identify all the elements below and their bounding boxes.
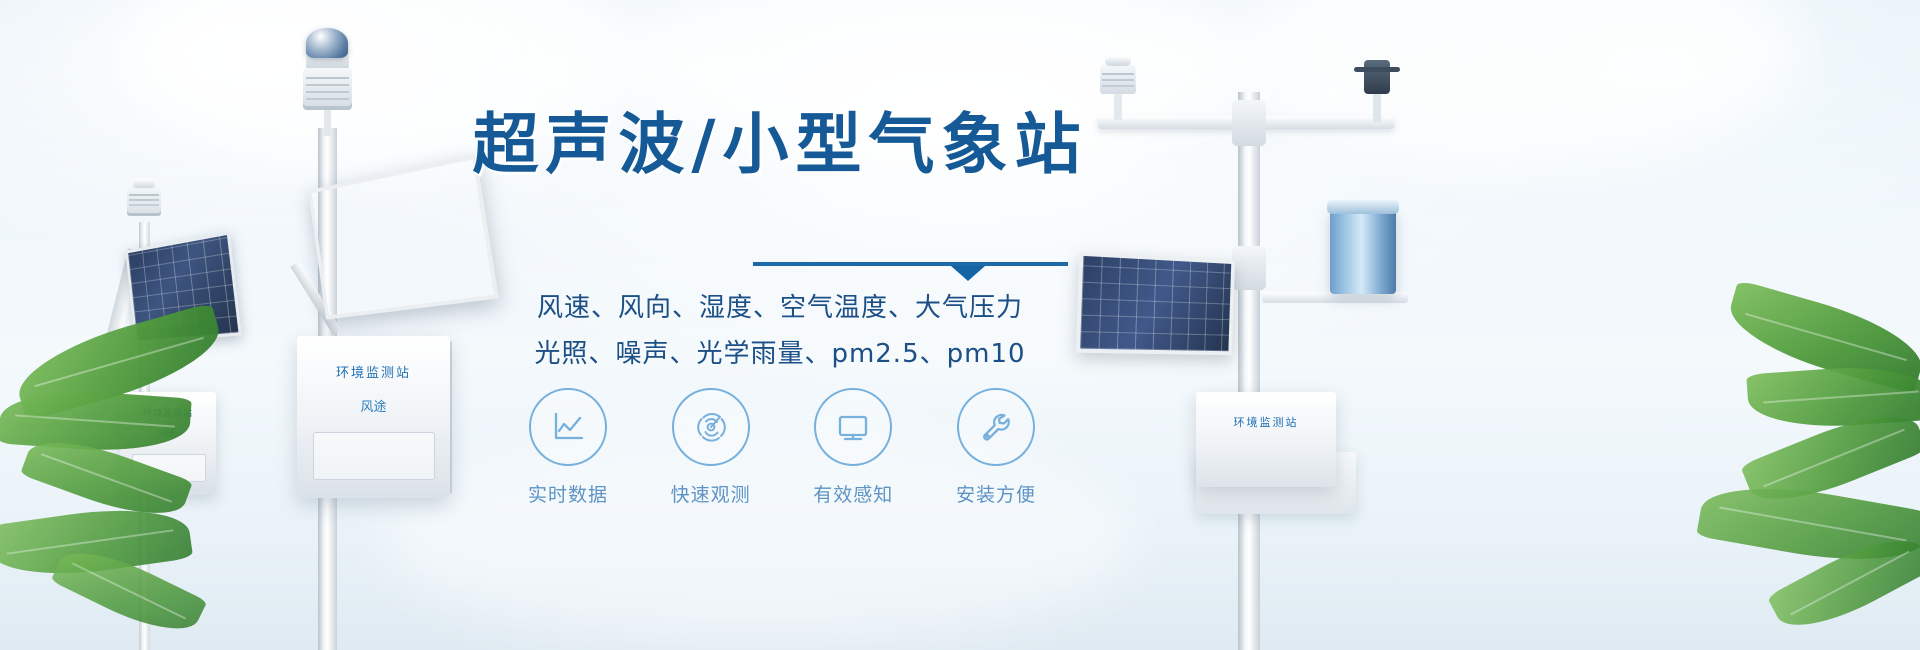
feature-label: 实时数据 [528,480,608,507]
feature-label: 快速观测 [671,480,751,507]
cabinet-vent [313,432,435,480]
line-chart-icon [529,388,607,466]
feature-label: 安装方便 [956,480,1036,507]
cabinet-label: 环境监测站 [336,362,411,381]
ultrasonic-sensor-icon [127,186,161,216]
feature-item-fast-observation[interactable]: 快速观测 [655,388,767,507]
pole-clamp [1232,246,1266,290]
banner-title: 超声波/小型气象站 [440,106,1120,184]
monitoring-cabinet: 环境监测站 风途 [297,336,450,498]
wind-vane-icon [1364,60,1390,94]
monitor-icon [814,388,892,466]
banner-content: 超声波/小型气象站 风速、风向、湿度、空气温度、大气压力 光照、噪声、光学雨量、… [440,0,1120,650]
feature-label: 有效感知 [813,480,893,507]
feature-list: 实时数据 快速观测 [512,388,1052,507]
product-banner: 环境监测站 风途 环境监测站 风途 环境监测 [0,0,1920,650]
pole-clamp [1232,100,1266,146]
cloud-wash [1240,0,1800,170]
station-pole [1238,92,1260,650]
title-divider [753,262,1068,266]
rain-gauge-icon [1330,208,1396,294]
feature-item-easy-installation[interactable]: 安装方便 [940,388,1052,507]
dome-sensor-icon [306,28,348,58]
monitoring-cabinet: 环境监测站 [1196,392,1336,487]
radiation-shield-icon [303,66,352,110]
wrench-icon [957,388,1035,466]
brand-logo: 风途 [360,396,386,415]
subtitle-line-2: 光照、噪声、光学雨量、pm2.5、pm10 [440,333,1120,370]
radar-scan-icon [672,388,750,466]
sensor-stalk [324,110,331,136]
feature-item-realtime-data[interactable]: 实时数据 [512,388,624,507]
sensor-stalk [1373,92,1381,122]
subtitle-line-1: 风速、风向、湿度、空气温度、大气压力 [440,287,1120,324]
cabinet-label: 环境监测站 [1234,414,1299,430]
feature-item-effective-sensing[interactable]: 有效感知 [797,388,909,507]
